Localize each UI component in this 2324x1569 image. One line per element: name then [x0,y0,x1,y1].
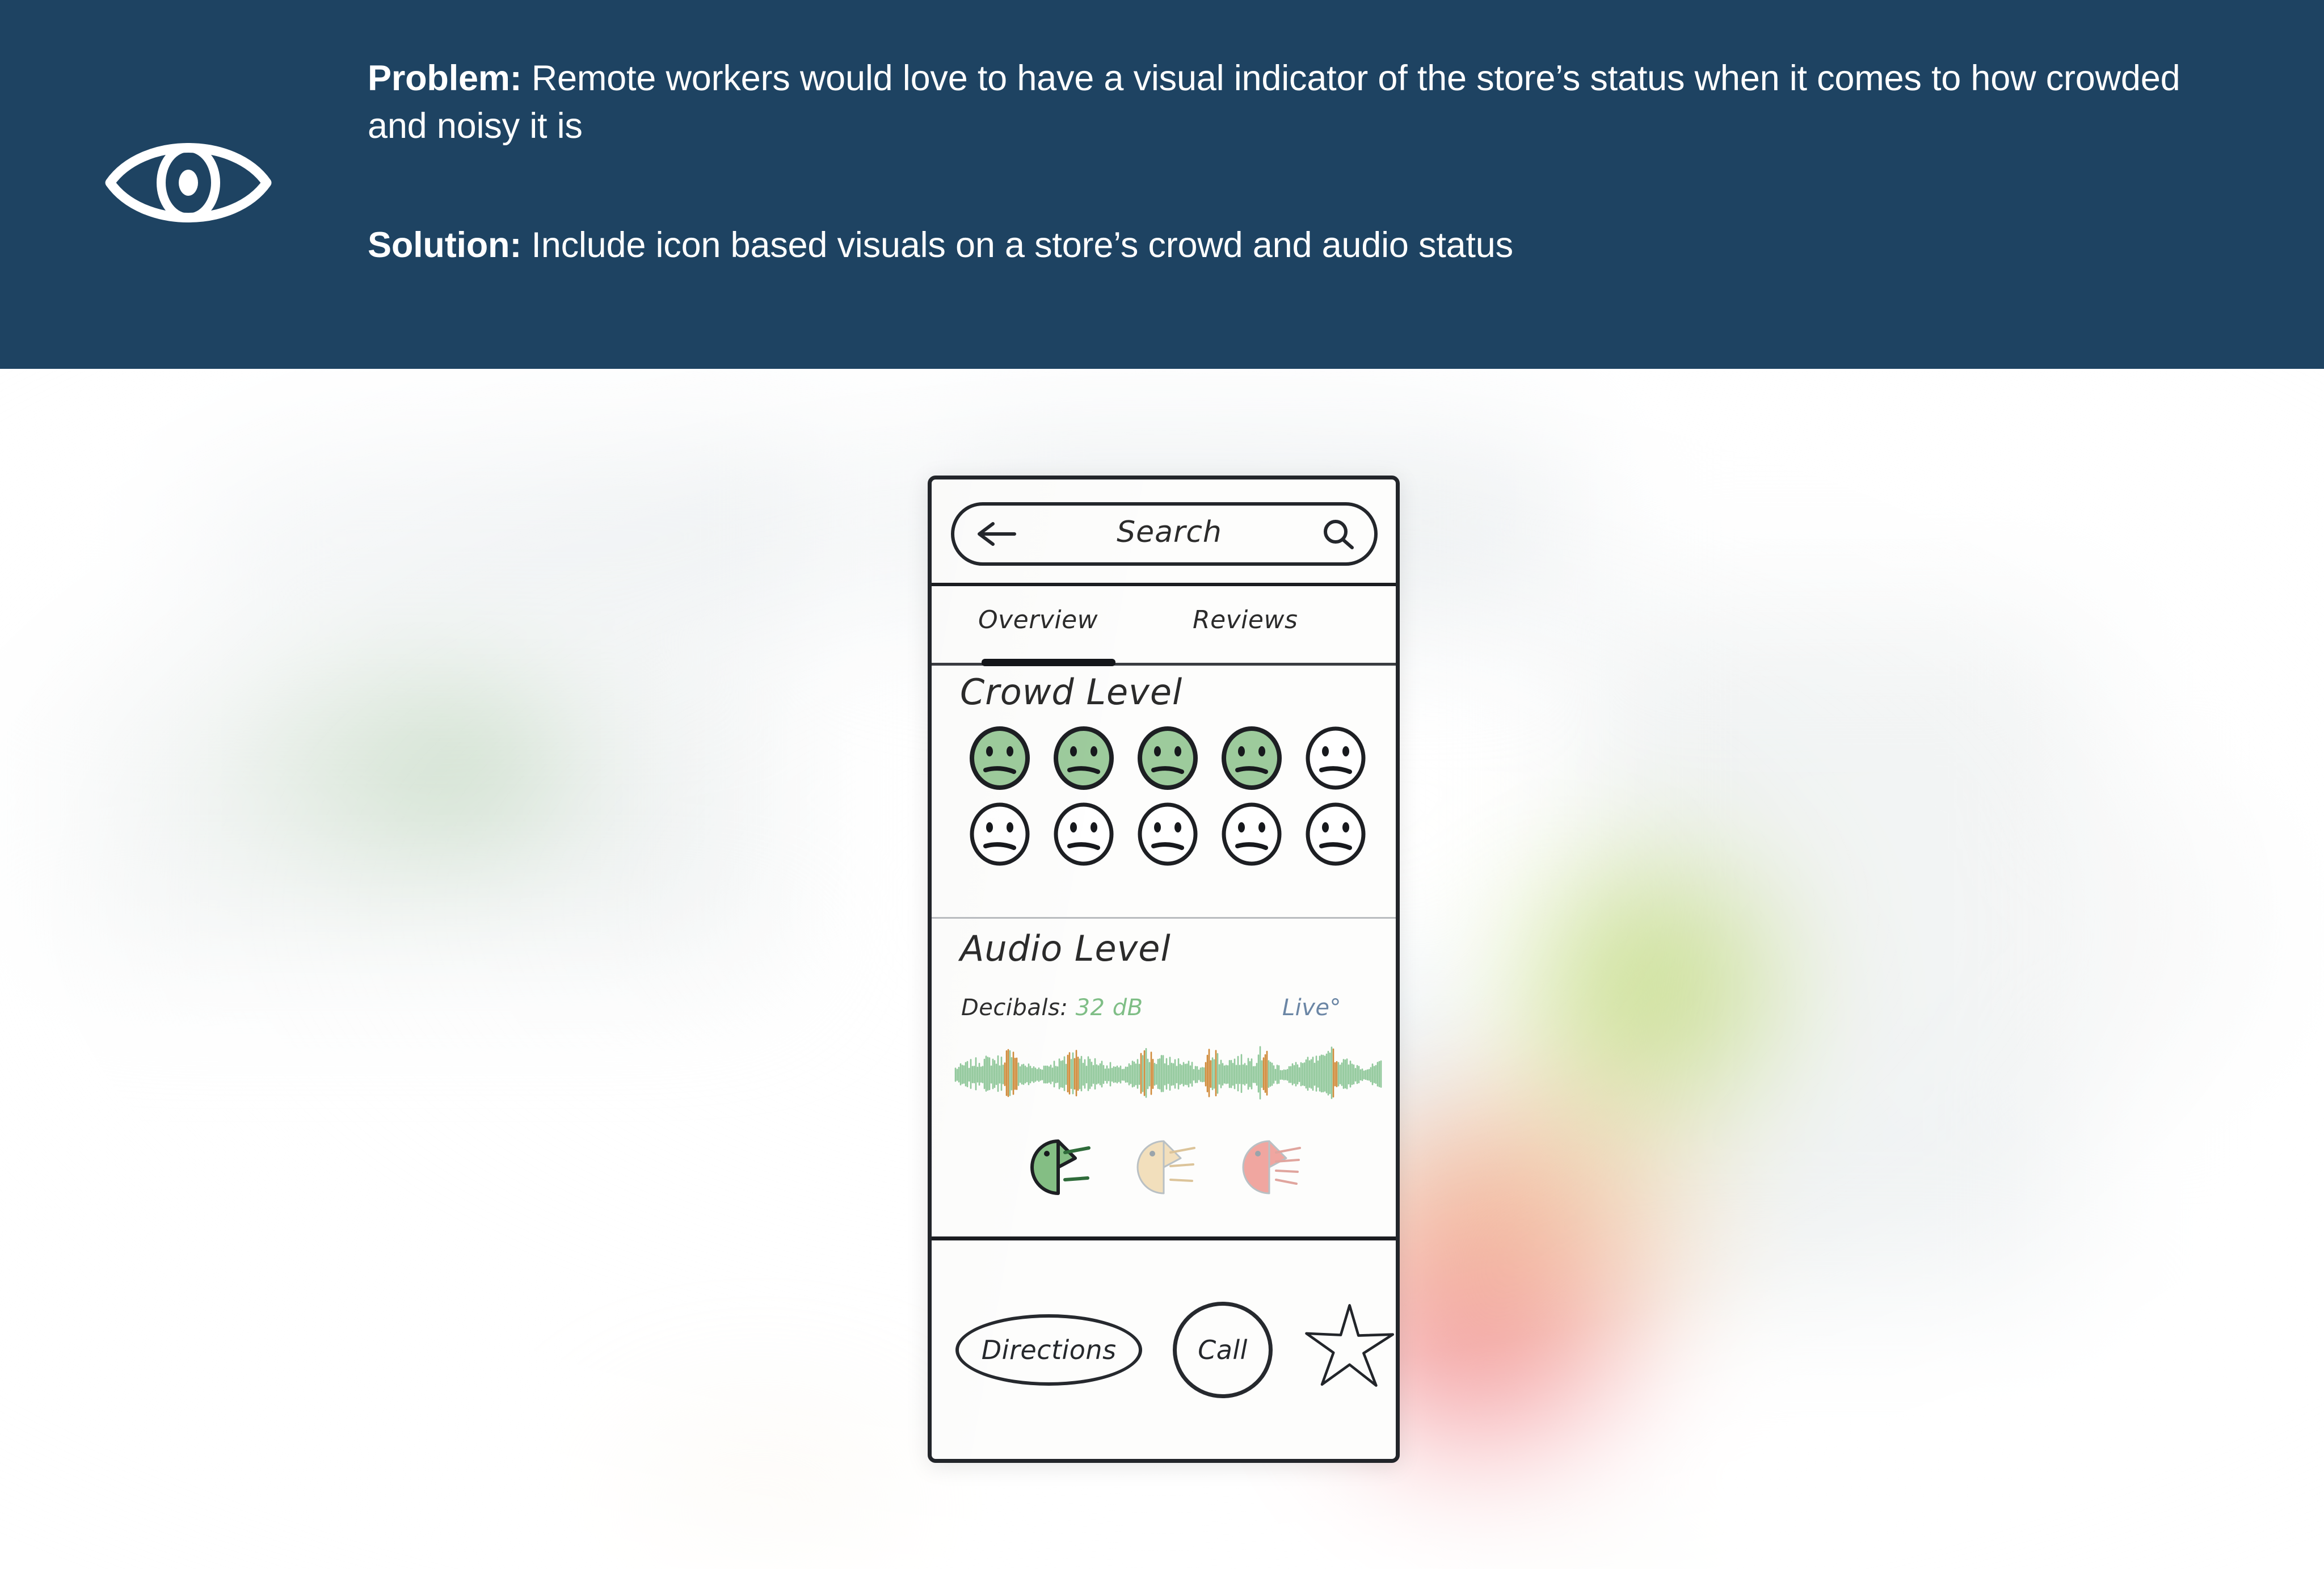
speaker-medium-icon[interactable] [1122,1135,1206,1199]
search-bar-row: Search [932,479,1396,586]
magnifier-icon[interactable] [1321,518,1355,550]
speaker-high-icon[interactable] [1227,1135,1311,1199]
neutral-face-icon[interactable] [966,801,1033,868]
search-input[interactable]: Search [951,502,1378,566]
crowd-level-title: Crowd Level [960,671,1182,713]
speaker-level-row[interactable] [932,1135,1396,1199]
audio-waveform [954,1045,1383,1106]
decibel-label: Decibals: [961,995,1068,1021]
crowd-level-face-grid[interactable] [958,725,1378,868]
neutral-face-icon[interactable] [966,725,1033,792]
eye-icon [103,126,273,239]
header-banner: Problem: Remote workers would love to ha… [0,0,2324,369]
decibel-readout: Decibals: 32 dB [961,995,1143,1021]
neutral-face-icon[interactable] [1134,801,1201,868]
neutral-face-icon[interactable] [1050,801,1117,868]
neutral-face-icon[interactable] [1302,725,1369,792]
neutral-face-icon[interactable] [1218,725,1285,792]
mockup-canvas: Search Overview Reviews Crowd Level Audi… [0,369,2324,1569]
problem-label: Problem: [368,58,521,98]
audio-level-title: Audio Level [960,928,1171,969]
neutral-face-icon[interactable] [1302,801,1369,868]
directions-button[interactable]: Directions [955,1314,1142,1386]
solution-statement: Solution: Include icon based visuals on … [368,221,2240,269]
problem-statement: Problem: Remote workers would love to ha… [368,54,2240,150]
neutral-face-icon[interactable] [1050,725,1117,792]
solution-body: Include icon based visuals on a store’s … [521,225,1513,265]
audio-level-section: Audio Level Decibals: 32 dB Live° [932,919,1396,1240]
tab-reviews[interactable]: Reviews [1193,605,1298,639]
neutral-face-icon[interactable] [1134,725,1201,792]
problem-body: Remote workers would love to have a visu… [368,58,2180,146]
tab-overview[interactable]: Overview [978,605,1098,639]
search-placeholder-label: Search [1018,515,1321,549]
live-status-badge: Live° [1282,995,1341,1021]
call-button[interactable]: Call [1173,1302,1272,1398]
solution-label: Solution: [368,225,521,265]
decibel-value: 32 dB [1076,995,1143,1021]
phone-mockup: Search Overview Reviews Crowd Level Audi… [928,476,1400,1463]
star-icon[interactable] [1303,1301,1396,1399]
action-bar: Directions Call [932,1240,1396,1459]
neutral-face-icon[interactable] [1218,801,1285,868]
back-arrow-icon[interactable] [974,521,1018,547]
tab-bar: Overview Reviews [932,586,1396,666]
header-text-block: Problem: Remote workers would love to ha… [368,54,2240,269]
crowd-level-section: Crowd Level [932,666,1396,919]
speaker-low-icon[interactable] [1016,1135,1100,1199]
